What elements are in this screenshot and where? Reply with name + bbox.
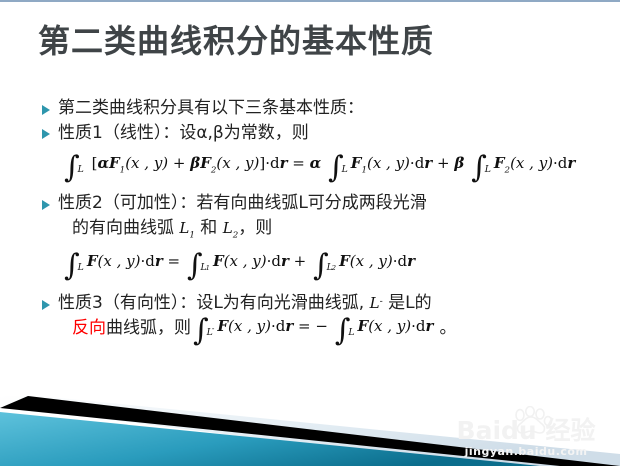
vector-F: F (87, 252, 98, 270)
dot-dr-b: ·d (411, 317, 425, 335)
dot-dr: ·d (265, 154, 279, 172)
integral-sign: ∫ (64, 257, 80, 275)
bottom-decoration (0, 396, 620, 466)
arc-L-reverse: L (370, 294, 380, 312)
formula-orientation: ∫L-F(x , y)·dr = − ∫LF(x , y)·dr (191, 316, 433, 340)
property-3-line2: 反向曲线弧，则∫L-F(x , y)·dr = − ∫LF(x , y)·dr。 (0, 316, 620, 341)
watermark: Baidu 经验 jingyan.baidu.com (446, 418, 606, 458)
integral-subscript-2-index: 1 (206, 264, 213, 272)
plus-operator: + (289, 252, 311, 270)
integral-sign-3: ∫ (313, 257, 329, 275)
formula-linearity: ∫L [αF1(x , y) + βF2(x , y)]·dr = α ∫LF1… (62, 154, 620, 177)
property-3-line1-part-b: 是L的 (383, 293, 432, 313)
property-3-line2-rest: 曲线弧，则 (106, 318, 191, 338)
beta-symbol: β (190, 154, 200, 172)
vector-r-c: r (407, 252, 415, 270)
bullet-item-intro: 第二类曲线积分具有以下三条基本性质： (0, 96, 620, 121)
reverse-keyword-highlight: 反向 (72, 318, 106, 338)
alpha-symbol-2: α (310, 154, 322, 172)
dot-dr: ·d (140, 252, 154, 270)
vector-F1: F (109, 154, 120, 172)
pale-blue-wedge (0, 396, 620, 466)
equals-sign: = (293, 317, 315, 335)
property-2-line2-part-b: 和 (195, 218, 223, 238)
integral-sign-3: ∫ (471, 159, 487, 177)
property-1-text: 性质1（线性）：设α,β为常数，则 (58, 123, 309, 143)
integral-sign: ∫ (64, 159, 80, 177)
vector-F-b: F (213, 252, 224, 270)
property-3-line1-part-a: 性质3（有向性）：设L为有向光滑曲线弧, (58, 293, 370, 313)
F2b-arguments: (x , y) (510, 154, 553, 172)
vector-r: r (155, 252, 163, 270)
dot-dr-2: ·d (410, 154, 424, 172)
triangle-bullet-icon (42, 300, 50, 310)
vector-F2: F (200, 154, 211, 172)
arc-L1-subscript: 1 (189, 230, 195, 240)
triangle-bullet-icon (42, 105, 50, 115)
watermark-url: jingyan.baidu.com (446, 445, 606, 458)
bullet-item-property-3: 性质3（有向性）：设L为有向光滑曲线弧, L- 是L的 (0, 291, 620, 316)
vector-r: r (280, 154, 288, 172)
integral-sign-2: ∫ (328, 159, 344, 177)
F-arguments-b: (x , y) (368, 317, 411, 335)
vector-F-b: F (358, 317, 369, 335)
integral-sign: ∫ (193, 322, 209, 340)
vector-F1-b: F (351, 154, 362, 172)
integral-sign-2: ∫ (187, 257, 203, 275)
F-arguments-c: (x , y) (350, 252, 393, 270)
F1b-arguments: (x , y) (367, 154, 410, 172)
formula-additivity: ∫LF(x , y)·dr = ∫L1F(x , y)·dr + ∫L2F(x … (62, 252, 620, 275)
integral-subscript-3-index: 2 (332, 264, 339, 272)
arc-L1: L (179, 219, 189, 237)
plus-operator-2: + (432, 154, 454, 172)
vector-r-b: r (281, 252, 289, 270)
sentence-period: 。 (433, 318, 456, 338)
F1-arguments: (x , y) (125, 154, 168, 172)
equals-sign: = (288, 154, 310, 172)
equals-sign: = (163, 252, 185, 270)
F-arguments: (x , y) (228, 317, 271, 335)
alpha-symbol: α (97, 154, 109, 172)
triangle-bullet-icon (42, 129, 50, 139)
vector-r-b: r (426, 317, 434, 335)
arc-L-reverse-superscript: - (380, 296, 383, 307)
slide-canvas: 第二类曲线积分的基本性质 第二类曲线积分具有以下三条基本性质： 性质1（线性）：… (0, 0, 620, 466)
vector-F2-b: F (494, 154, 505, 172)
arc-L2: L (223, 219, 233, 237)
bullet-item-property-2: 性质2（可加性）：若有向曲线弧L可分成两段光滑 (0, 191, 620, 216)
slide-body: 第二类曲线积分具有以下三条基本性质： 性质1（线性）：设α,β为常数，则 ∫L … (0, 96, 620, 340)
teal-wedge (0, 412, 540, 466)
property-2-line2-part-a: 的有向曲线弧 (72, 218, 179, 238)
plus-operator: + (168, 154, 190, 172)
top-rule (0, 0, 620, 2)
decoration-shapes (0, 396, 620, 466)
property-2-line2-part-c: ，则 (238, 218, 272, 238)
F-arguments: (x , y) (97, 252, 140, 270)
minus-sign: − (315, 317, 332, 335)
vector-r-3: r (567, 154, 575, 172)
triangle-bullet-icon (42, 200, 50, 210)
dot-dr: ·d (271, 317, 285, 335)
slide-title: 第二类曲线积分的基本性质 (38, 24, 434, 59)
F2-arguments: (x , y) (216, 154, 259, 172)
paw-print-icon (510, 406, 554, 436)
bullet-item-property-1: 性质1（线性）：设α,β为常数，则 (0, 121, 620, 146)
integral-sign-2: ∫ (335, 322, 351, 340)
black-diagonal-stripe (0, 396, 620, 466)
watermark-brand: Baidu 经验 (446, 418, 606, 443)
dot-dr-b: ·d (267, 252, 281, 270)
intro-text: 第二类曲线积分具有以下三条基本性质： (58, 98, 364, 118)
vector-F: F (217, 317, 228, 335)
arc-L2-subscript: 2 (233, 230, 239, 240)
property-2-text-line1: 性质2（可加性）：若有向曲线弧L可分成两段光滑 (58, 193, 427, 213)
dot-dr-c: ·d (393, 252, 407, 270)
F-arguments-b: (x , y) (224, 252, 267, 270)
vector-F-c: F (339, 252, 350, 270)
property-2-text-line2: 的有向曲线弧 L1 和 L2，则 (0, 216, 620, 242)
beta-symbol-2: β (454, 154, 464, 172)
dot-dr-3: ·d (553, 154, 567, 172)
